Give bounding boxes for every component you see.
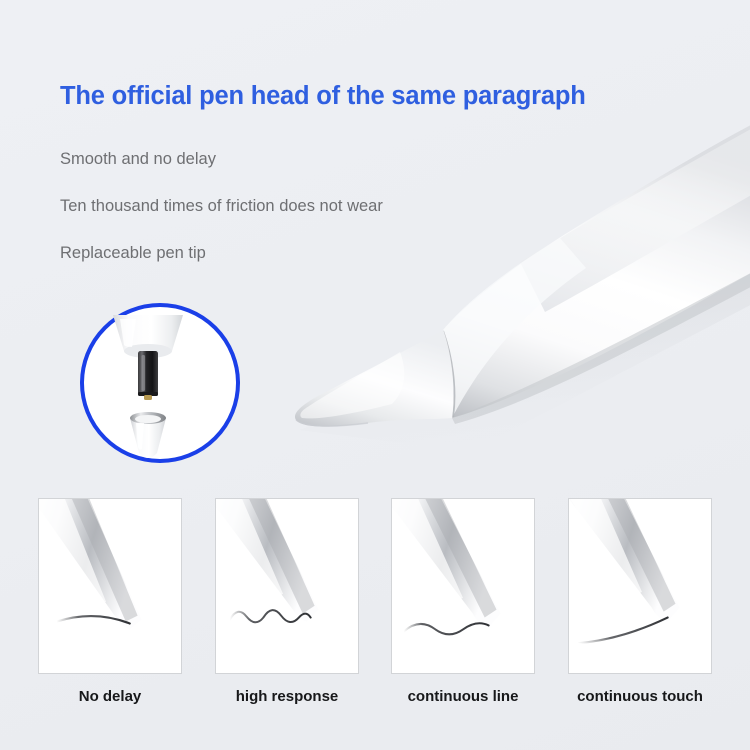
demo-panel-row <box>0 498 750 686</box>
feature-list: Smooth and no delay Ten thousand times o… <box>60 150 490 291</box>
panel-no-delay <box>38 498 182 674</box>
feature-item: Replaceable pen tip <box>60 244 490 263</box>
caption-continuous-touch: continuous touch <box>550 688 730 705</box>
feature-item: Ten thousand times of friction does not … <box>60 197 490 216</box>
panel-continuous-line <box>391 498 535 674</box>
product-feature-image: The official pen head of the same paragr… <box>0 0 750 750</box>
caption-continuous-line: continuous line <box>373 688 553 705</box>
caption-high-response: high response <box>197 688 377 705</box>
callout-artwork <box>80 303 240 463</box>
metal-tip-shaft <box>138 351 158 400</box>
panel-high-response <box>215 498 359 674</box>
replaceable-pen-tip-callout <box>80 303 240 463</box>
panel-continuous-touch <box>568 498 712 674</box>
feature-item: Smooth and no delay <box>60 150 490 169</box>
caption-no-delay: No delay <box>20 688 200 705</box>
panel-captions: No delay high response continuous line c… <box>0 688 750 718</box>
detached-pen-tip <box>130 412 166 458</box>
page-title: The official pen head of the same paragr… <box>60 82 586 111</box>
